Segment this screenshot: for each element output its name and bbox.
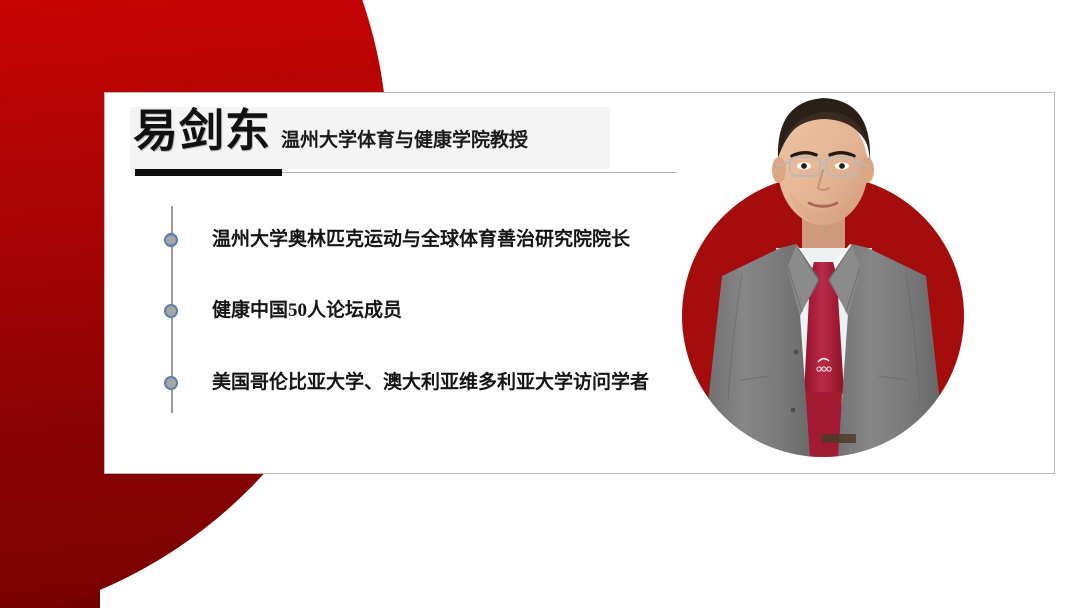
credentials-timeline: 温州大学奥林匹克运动与全球体育善治研究院院长 健康中国50人论坛成员 美国哥伦比…: [165, 206, 725, 416]
name-underline-rule: [135, 169, 282, 176]
portrait-head-group: [702, 98, 946, 457]
speaker-name: 易剑东: [133, 109, 271, 154]
portrait-photo: [684, 62, 964, 457]
credential-text: 温州大学奥林匹克运动与全球体育善治研究院院长: [212, 227, 630, 253]
slide-root: 易剑东 温州大学体育与健康学院教授 温州大学奥林匹克运动与全球体育善治研究院院长…: [0, 0, 1080, 608]
credential-text: 健康中国50人论坛成员: [212, 298, 402, 324]
bullet-dot-icon: [164, 376, 178, 390]
title-underline-rule: [282, 172, 677, 173]
speaker-header: 易剑东 温州大学体育与健康学院教授: [133, 109, 528, 154]
bullet-dot-icon: [164, 304, 178, 318]
speaker-title: 温州大学体育与健康学院教授: [281, 131, 528, 154]
credential-text: 美国哥伦比亚大学、澳大利亚维多利亚大学访问学者: [212, 370, 649, 396]
bullet-dot-icon: [164, 233, 178, 247]
